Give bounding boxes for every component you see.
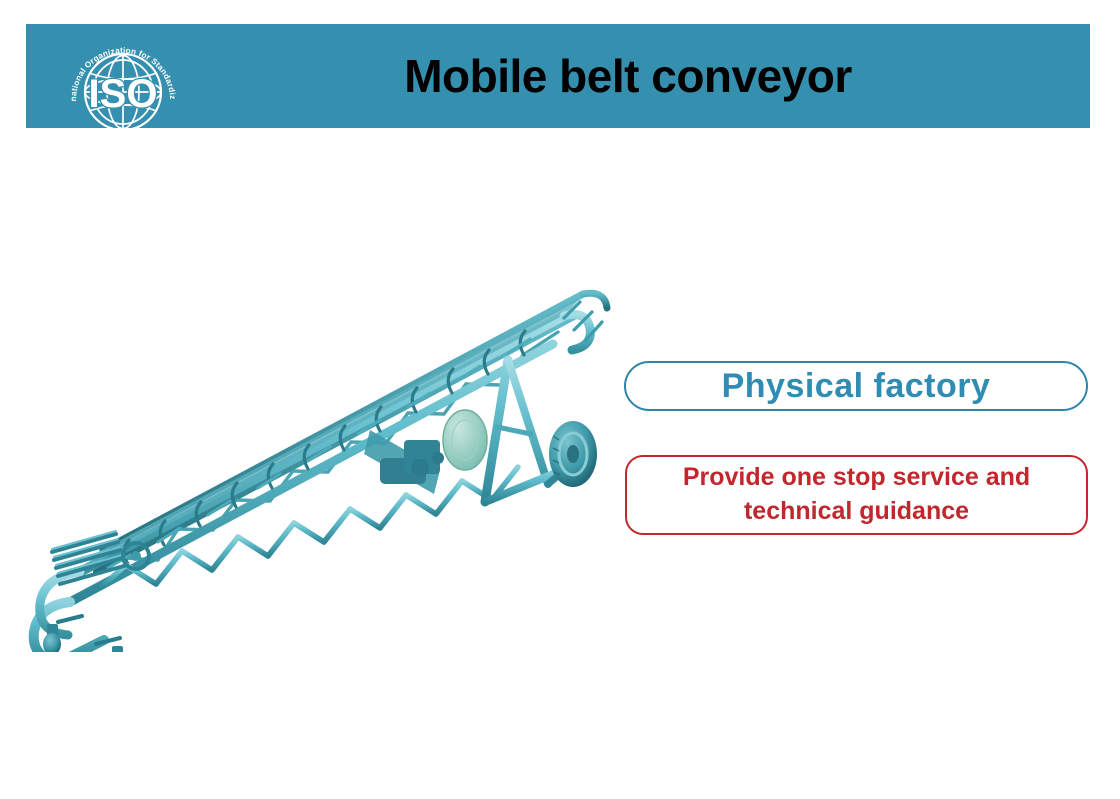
mobile-belt-conveyor-image — [8, 272, 618, 652]
callout-line-1: Provide one stop service and — [683, 463, 1030, 491]
callout-physical-factory-label: Physical factory — [722, 367, 991, 406]
header-banner: International Organization for Standardi… — [26, 24, 1090, 128]
svg-text:ISO: ISO — [89, 72, 158, 116]
svg-text:9001: 9001 — [104, 126, 142, 145]
transport-wheel — [549, 421, 597, 487]
callout-physical-factory[interactable]: Physical factory — [624, 361, 1088, 411]
iso-9001-logo-icon: International Organization for Standardi… — [64, 34, 182, 146]
page-title: Mobile belt conveyor — [186, 24, 1070, 128]
callout-one-stop-service-label: Provide one stop service and technical g… — [683, 461, 1030, 529]
callout-line-2: technical guidance — [744, 497, 969, 525]
callout-one-stop-service[interactable]: Provide one stop service and technical g… — [625, 455, 1088, 535]
